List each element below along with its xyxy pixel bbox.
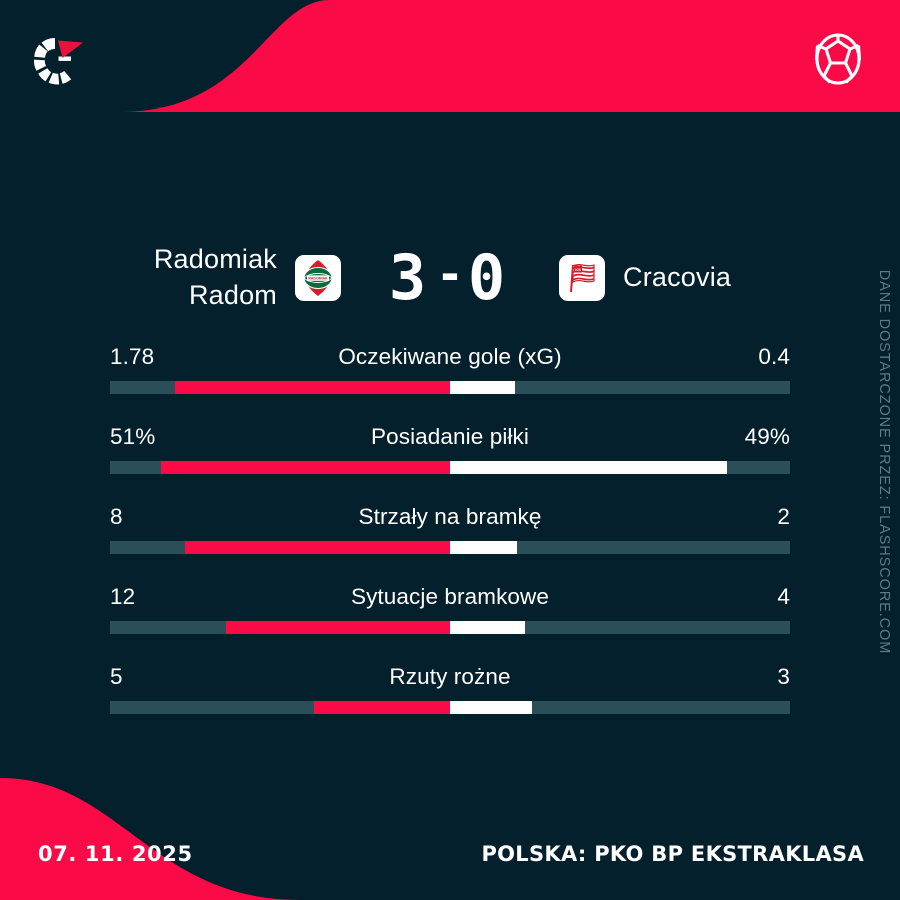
- stat-label: Strzały na bramkę: [205, 504, 695, 530]
- away-team-crest: KS: [559, 255, 605, 301]
- stat-bar-home: [314, 701, 450, 714]
- stat-row: 12 Sytuacje bramkowe 4: [110, 584, 790, 634]
- home-score: 3: [389, 247, 432, 309]
- stat-away-value: 0.4: [695, 344, 790, 370]
- stat-bar-home: [185, 541, 450, 554]
- stat-bar-home: [161, 461, 450, 474]
- stat-away-value: 49%: [695, 424, 790, 450]
- match-statistics-list: 1.78 Oczekiwane gole (xG) 0.4 51% Posiad…: [110, 344, 790, 714]
- stat-bar-track: [110, 381, 790, 394]
- stat-home-value: 12: [110, 584, 205, 610]
- svg-text:RADOMIAK: RADOMIAK: [308, 276, 328, 280]
- stat-label: Rzuty rożne: [205, 664, 695, 690]
- data-source-watermark: DANE DOSTARCZONE PRZEZ: FLASHSCORE.COM: [870, 262, 898, 662]
- cracovia-crest-icon: KS: [560, 256, 604, 300]
- league-name: POLSKA: PKO BP EKSTRAKLASA: [481, 842, 864, 866]
- stat-bar-home: [175, 381, 450, 394]
- stat-row: 8 Strzały na bramkę 2: [110, 504, 790, 554]
- stat-away-value: 4: [695, 584, 790, 610]
- stat-bar-home: [226, 621, 450, 634]
- stat-row: 51% Posiadanie piłki 49%: [110, 424, 790, 474]
- stat-label: Posiadanie piłki: [205, 424, 695, 450]
- stat-row: 5 Rzuty rożne 3: [110, 664, 790, 714]
- stat-label: Sytuacje bramkowe: [205, 584, 695, 610]
- score-separator: -: [436, 251, 464, 297]
- soccer-ball-icon: [806, 27, 870, 91]
- scoreboard: Radomiak Radom RADOMIAK 3 - 0: [0, 232, 900, 324]
- header-red-shape: [0, 0, 900, 120]
- footer-bar: 07. 11. 2025 POLSKA: PKO BP EKSTRAKLASA: [0, 760, 900, 900]
- stat-bar-track: [110, 621, 790, 634]
- header-bar: [0, 0, 900, 120]
- stat-away-value: 2: [695, 504, 790, 530]
- score-display: 3 - 0: [341, 247, 559, 309]
- match-summary-card: Radomiak Radom RADOMIAK 3 - 0: [0, 0, 900, 900]
- stat-bar-away: [450, 541, 517, 554]
- stat-away-value: 3: [695, 664, 790, 690]
- stat-bar-away: [450, 621, 525, 634]
- svg-text:KS: KS: [575, 267, 581, 272]
- stat-label: Oczekiwane gole (xG): [205, 344, 695, 370]
- stat-home-value: 8: [110, 504, 205, 530]
- stat-home-value: 1.78: [110, 344, 205, 370]
- stat-bar-track: [110, 541, 790, 554]
- home-team-name: Radomiak Radom: [105, 242, 295, 313]
- stat-home-value: 51%: [110, 424, 205, 450]
- match-date: 07. 11. 2025: [38, 842, 193, 866]
- stat-home-value: 5: [110, 664, 205, 690]
- away-team-name: Cracovia: [605, 260, 795, 296]
- home-team-name-line1: Radomiak: [105, 242, 277, 278]
- data-source-watermark-text: DANE DOSTARCZONE PRZEZ: FLASHSCORE.COM: [876, 270, 892, 654]
- stat-bar-away: [450, 701, 532, 714]
- stat-row: 1.78 Oczekiwane gole (xG) 0.4: [110, 344, 790, 394]
- home-team-crest: RADOMIAK: [295, 255, 341, 301]
- away-score: 0: [468, 247, 511, 309]
- flashscore-logo-icon: [22, 26, 90, 94]
- stat-bar-track: [110, 701, 790, 714]
- stat-bar-away: [450, 461, 727, 474]
- home-team-name-line2: Radom: [105, 278, 277, 314]
- stat-bar-track: [110, 461, 790, 474]
- stat-bar-away: [450, 381, 515, 394]
- footer-red-shape: [0, 760, 460, 900]
- radomiak-radom-crest-icon: RADOMIAK: [296, 256, 340, 300]
